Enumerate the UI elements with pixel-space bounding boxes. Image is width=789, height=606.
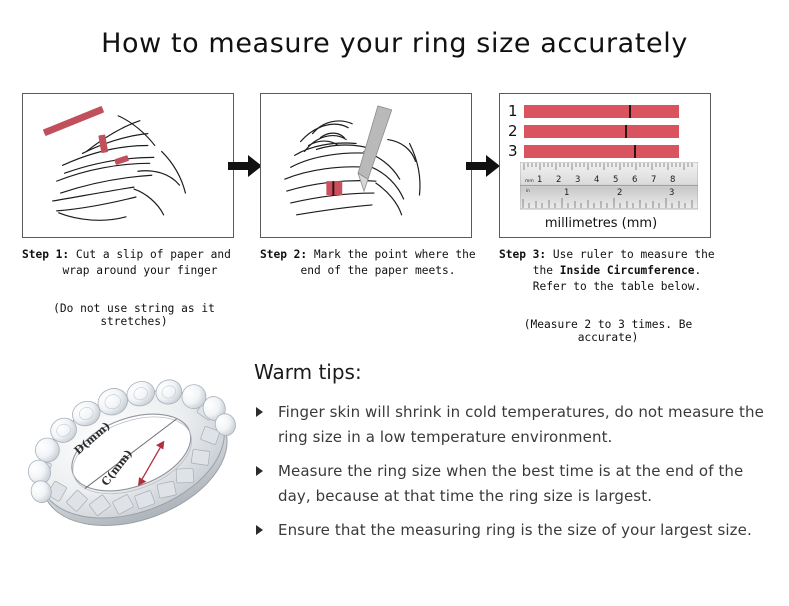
step-1-column: Step 1: Cut a slip of paper and wrap aro…	[22, 93, 234, 328]
warm-tip-text-1: Finger skin will shrink in cold temperat…	[278, 403, 764, 446]
svg-text:1: 1	[564, 188, 569, 198]
svg-text:3: 3	[575, 175, 580, 185]
strip-bar-3	[524, 145, 679, 158]
svg-text:3: 3	[669, 188, 674, 198]
triangle-bullet-icon	[256, 407, 263, 417]
strip-number-3: 3	[508, 144, 524, 158]
svg-text:4: 4	[594, 175, 599, 185]
step-3-panel: 1 2 3	[499, 93, 711, 238]
step-2-line2: end of the paper meets.	[260, 263, 478, 279]
step-1-panel	[22, 93, 234, 238]
triangle-bullet-icon	[256, 525, 263, 535]
step-1-label: Step 1:	[22, 248, 69, 261]
step-3-label: Step 3:	[499, 248, 546, 261]
arrow-right-icon-2	[466, 155, 500, 177]
warm-tip-text-3: Ensure that the measuring ring is the si…	[278, 521, 752, 539]
svg-text:5: 5	[613, 175, 618, 185]
warm-tip-item-2: Measure the ring size when the best time…	[254, 459, 774, 509]
measured-strip-row-3: 3	[508, 144, 679, 158]
step-2-label: Step 2:	[260, 248, 307, 261]
step-3-column: 1 2 3	[499, 93, 711, 344]
step-3-inside-circumference: Inside Circumference	[560, 264, 695, 277]
svg-text:6: 6	[632, 175, 637, 185]
svg-text:2: 2	[617, 188, 622, 198]
strip-bar-1	[524, 105, 679, 118]
step-2-line1: Mark the point where the	[314, 248, 476, 261]
hand-marking-paper-with-pen-icon	[261, 94, 471, 238]
step-3-note: (Measure 2 to 3 times. Be accurate)	[499, 318, 717, 344]
svg-text:1: 1	[537, 175, 542, 185]
svg-text:in: in	[526, 188, 530, 193]
arrow-right-icon-1	[228, 155, 262, 177]
page-title: How to measure your ring size accurately	[0, 28, 789, 59]
step-3-line2-post: .	[694, 264, 701, 277]
warm-tip-item-1: Finger skin will shrink in cold temperat…	[254, 400, 774, 450]
svg-text:8: 8	[670, 175, 675, 185]
strip-number-2: 2	[508, 124, 524, 138]
ring-diagram	[22, 352, 247, 567]
step-3-line3: Refer to the table below.	[499, 279, 717, 295]
triangle-bullet-icon	[256, 466, 263, 476]
step-3-line2-pre: the	[533, 264, 560, 277]
pen-shape	[358, 106, 392, 191]
ring-body-shape	[22, 353, 247, 554]
strip-bar-2	[524, 125, 679, 138]
step-3-caption: Step 3: Use ruler to measure the the Ins…	[499, 247, 717, 295]
svg-text:2: 2	[556, 175, 561, 185]
step-1-note: (Do not use string as it stretches)	[22, 302, 240, 328]
ruler-icon: mm 12 34 56 78 in 123	[520, 162, 698, 210]
strip-tick-2	[625, 125, 627, 138]
strip-tick-3	[634, 145, 636, 158]
hand-with-paper-slip-icon	[23, 94, 233, 238]
measured-strip-row-2: 2	[508, 124, 679, 138]
strip-number-1: 1	[508, 104, 524, 118]
measured-strip-row-1: 1	[508, 104, 679, 118]
step-2-column: Step 2: Mark the point where the end of …	[260, 93, 472, 279]
steps-row: Step 1: Cut a slip of paper and wrap aro…	[0, 93, 789, 338]
step-2-caption: Step 2: Mark the point where the end of …	[260, 247, 478, 279]
step-3-line1: Use ruler to measure the	[553, 248, 715, 261]
paper-ring-mark-shape	[326, 181, 342, 195]
ruler-scale-caption: millimetres (mm)	[500, 216, 702, 231]
warm-tips-section: Warm tips: Finger skin will shrink in co…	[254, 360, 774, 552]
warm-tip-text-2: Measure the ring size when the best time…	[278, 462, 743, 505]
step-1-caption: Step 1: Cut a slip of paper and wrap aro…	[22, 247, 240, 279]
strip-tick-1	[629, 105, 631, 118]
svg-text:mm: mm	[525, 179, 534, 184]
step-2-panel	[260, 93, 472, 238]
step-1-line2: wrap around your finger	[22, 263, 240, 279]
svg-text:7: 7	[651, 175, 656, 185]
step-1-line1: Cut a slip of paper and	[76, 248, 231, 261]
warm-tips-title: Warm tips:	[254, 360, 774, 384]
warm-tip-item-3: Ensure that the measuring ring is the si…	[254, 518, 774, 543]
